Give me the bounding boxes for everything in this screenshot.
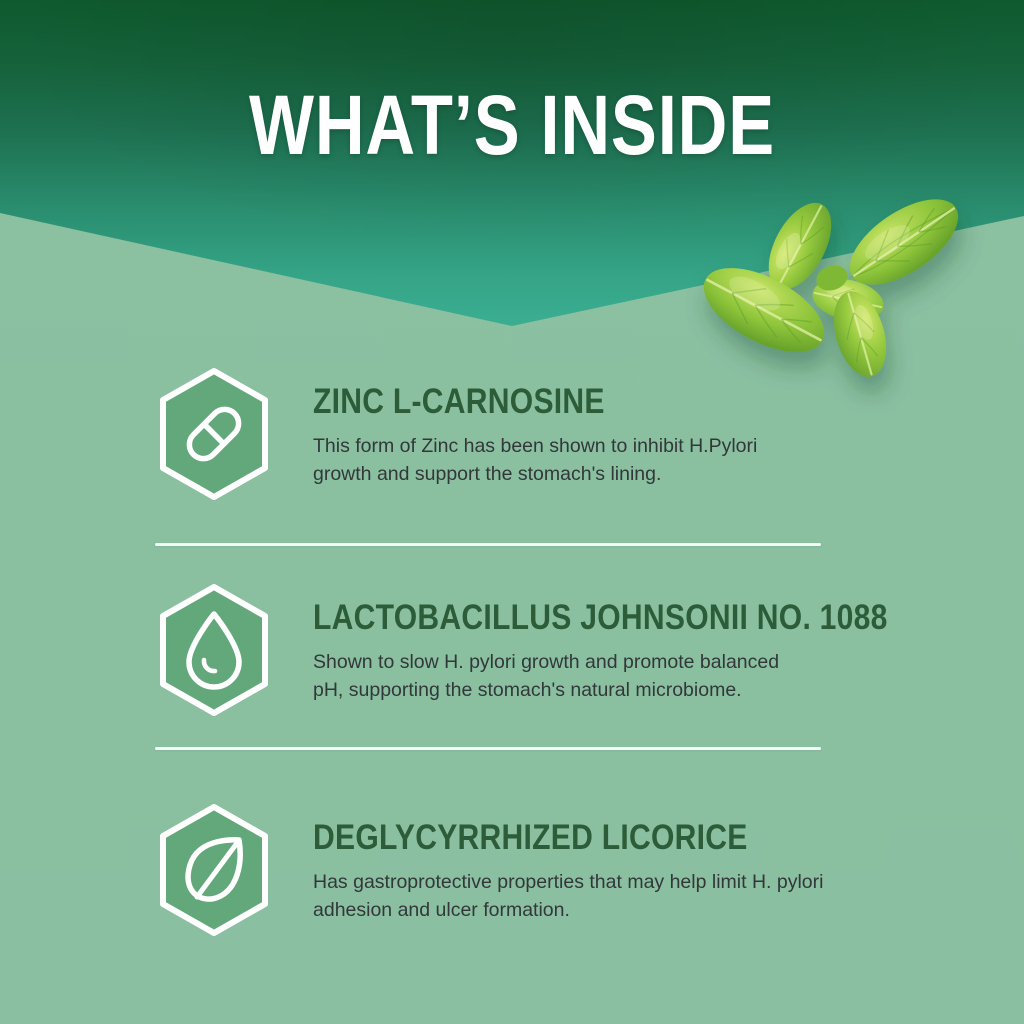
feature-row: DEGLYCYRRHIZED LICORICE Has gastroprotec… bbox=[155, 798, 895, 938]
section-divider bbox=[155, 543, 821, 546]
whats-inside-poster: WHAT’S INSIDE bbox=[0, 0, 1024, 1024]
feature-title: DEGLYCYRRHIZED LICORICE bbox=[313, 820, 752, 855]
feature-description: This form of Zinc has been shown to inhi… bbox=[313, 433, 757, 488]
feature-text: ZINC L-CARNOSINE This form of Zinc has b… bbox=[313, 362, 757, 488]
leaf-icon bbox=[155, 802, 273, 938]
feature-row: LACTOBACILLUS JOHNSONII NO. 1088 Shown t… bbox=[155, 578, 895, 718]
feature-description: Shown to slow H. pylori growth and promo… bbox=[313, 649, 873, 704]
feature-list: ZINC L-CARNOSINE This form of Zinc has b… bbox=[0, 0, 1024, 1024]
feature-text: LACTOBACILLUS JOHNSONII NO. 1088 Shown t… bbox=[313, 578, 981, 704]
feature-title: ZINC L-CARNOSINE bbox=[313, 384, 695, 419]
feature-description: Has gastroprotective properties that may… bbox=[313, 869, 823, 924]
feature-title: LACTOBACILLUS JOHNSONII NO. 1088 bbox=[313, 600, 888, 635]
section-divider bbox=[155, 747, 821, 750]
water-droplet-icon bbox=[155, 582, 273, 718]
feature-row: ZINC L-CARNOSINE This form of Zinc has b… bbox=[155, 362, 895, 502]
pill-capsule-icon bbox=[155, 366, 273, 502]
feature-text: DEGLYCYRRHIZED LICORICE Has gastroprotec… bbox=[313, 798, 823, 924]
